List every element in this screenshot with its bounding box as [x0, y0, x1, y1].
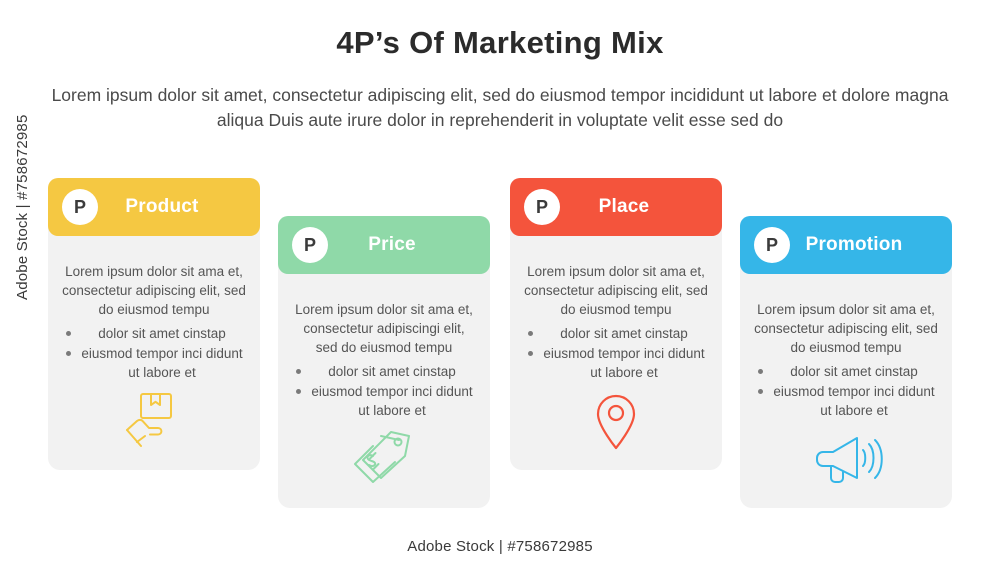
list-item: dolor sit amet cinstap	[308, 362, 476, 381]
card-promotion-header[interactable]: P Promotion	[740, 216, 952, 274]
card-product-bullets: dolor sit amet cinstap eiusmod tempor in…	[48, 324, 260, 383]
card-promotion-icon-wrap	[740, 432, 952, 488]
list-item: dolor sit amet cinstap	[78, 324, 246, 343]
list-item: eiusmod tempor inci didunt ut labore et	[540, 344, 708, 382]
card-product[interactable]: P Product Lorem ipsum dolor sit ama et, …	[48, 178, 260, 470]
card-price-badge: P	[292, 227, 328, 263]
card-promotion-title: Promotion	[790, 234, 952, 256]
card-price-description: Lorem ipsum dolor sit ama et, consectetu…	[278, 300, 490, 357]
card-price-icon-wrap	[278, 426, 490, 488]
megaphone-icon	[809, 432, 883, 488]
price-tag-icon	[351, 426, 417, 488]
list-item: dolor sit amet cinstap	[540, 324, 708, 343]
card-product-title: Product	[98, 196, 260, 218]
watermark-left: Adobe Stock | #758672985	[14, 114, 31, 300]
card-place-header[interactable]: P Place	[510, 178, 722, 236]
card-product-badge: P	[62, 189, 98, 225]
card-place-badge: P	[524, 189, 560, 225]
card-product-icon-wrap	[48, 390, 260, 450]
card-promotion[interactable]: P Promotion Lorem ipsum dolor sit ama et…	[740, 216, 952, 508]
list-item: eiusmod tempor inci didunt ut labore et	[308, 382, 476, 420]
card-price[interactable]: P Price Lorem ipsum dolor sit ama et, co…	[278, 216, 490, 508]
card-price-title: Price	[328, 234, 490, 256]
card-promotion-description: Lorem ipsum dolor sit ama et, consectetu…	[740, 300, 952, 357]
hand-package-icon	[123, 390, 185, 450]
infographic-canvas: Adobe Stock | #758672985 Adobe Stock | #…	[0, 0, 1000, 563]
card-place-description: Lorem ipsum dolor sit ama et, consectetu…	[510, 262, 722, 319]
card-place-title: Place	[560, 196, 722, 218]
card-place-bullets: dolor sit amet cinstap eiusmod tempor in…	[510, 324, 722, 383]
card-promotion-bullets: dolor sit amet cinstap eiusmod tempor in…	[740, 362, 952, 421]
location-pin-icon	[590, 392, 642, 454]
list-item: dolor sit amet cinstap	[770, 362, 938, 381]
card-product-header[interactable]: P Product	[48, 178, 260, 236]
card-product-description: Lorem ipsum dolor sit ama et, consectetu…	[48, 262, 260, 319]
card-price-bullets: dolor sit amet cinstap eiusmod tempor in…	[278, 362, 490, 421]
watermark-bottom: Adobe Stock | #758672985	[0, 538, 1000, 555]
card-promotion-badge: P	[754, 227, 790, 263]
card-place[interactable]: P Place Lorem ipsum dolor sit ama et, co…	[510, 178, 722, 470]
page-title: 4P’s Of Marketing Mix	[0, 25, 1000, 61]
page-subtitle: Lorem ipsum dolor sit amet, consectetur …	[50, 83, 950, 133]
card-price-header[interactable]: P Price	[278, 216, 490, 274]
list-item: eiusmod tempor inci didunt ut labore et	[770, 382, 938, 420]
list-item: eiusmod tempor inci didunt ut labore et	[78, 344, 246, 382]
card-place-icon-wrap	[510, 392, 722, 454]
